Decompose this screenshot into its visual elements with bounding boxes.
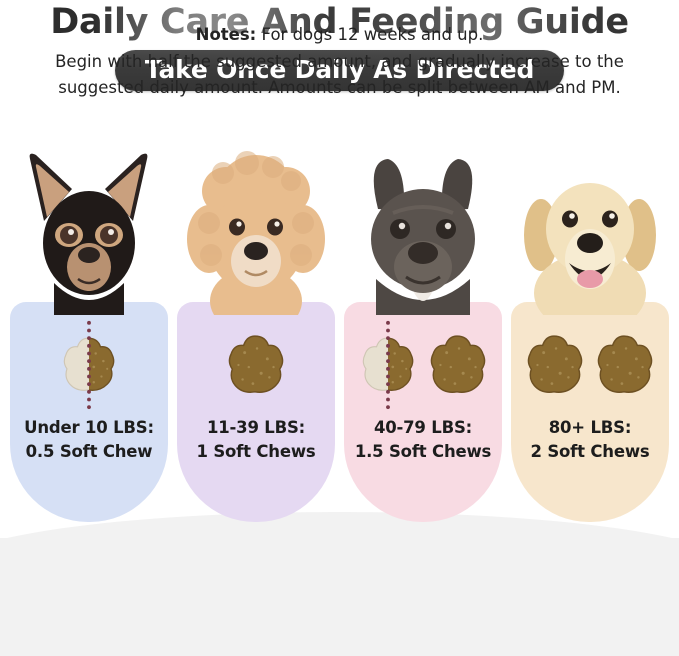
soft-chew-full xyxy=(427,332,489,402)
weight-label: 11-39 LBS: xyxy=(197,416,316,440)
dose-text: 11-39 LBS: 1 Soft Chews xyxy=(197,416,316,464)
soft-chew-half xyxy=(58,319,120,415)
chew-row xyxy=(524,330,656,404)
dose-text: 80+ LBS: 2 Soft Chews xyxy=(531,416,650,464)
weight-label: 40-79 LBS: xyxy=(355,416,491,440)
dog-photo-poodle xyxy=(181,143,331,315)
notes-section xyxy=(0,538,679,656)
soft-chew-full xyxy=(594,332,656,402)
dose-text: 40-79 LBS: 1.5 Soft Chews xyxy=(355,416,491,464)
dosage-card-row: Under 10 LBS: 0.5 Soft Chew xyxy=(0,140,679,530)
dog-photo-chihuahua xyxy=(14,143,164,315)
dog-photo xyxy=(177,140,335,315)
dose-text: Under 10 LBS: 0.5 Soft Chew xyxy=(24,416,154,464)
dosage-card-french-bulldog: 40-79 LBS: 1.5 Soft Chews xyxy=(344,140,502,530)
soft-chew-full xyxy=(225,332,287,402)
dog-photo xyxy=(10,140,168,315)
dog-photo xyxy=(511,140,669,315)
notes-label: Notes: xyxy=(196,25,257,44)
chew-row xyxy=(357,330,489,404)
chew-row xyxy=(225,330,287,404)
dog-photo-golden-retriever xyxy=(515,143,665,315)
card-content: 80+ LBS: 2 Soft Chews xyxy=(511,302,669,522)
dose-label: 2 Soft Chews xyxy=(531,440,650,464)
weight-label: 80+ LBS: xyxy=(531,416,650,440)
notes-line-1-text: For dogs 12 weeks and up. xyxy=(256,25,483,44)
soft-chew-full xyxy=(524,332,586,402)
dog-photo xyxy=(344,140,502,315)
chew-row xyxy=(58,330,120,404)
card-content: 11-39 LBS: 1 Soft Chews xyxy=(177,302,335,522)
notes-line-2: Begin with half the suggested amount, an… xyxy=(55,49,624,76)
card-content: 40-79 LBS: 1.5 Soft Chews xyxy=(344,302,502,522)
notes-text-block: Notes: For dogs 12 weeks and up. Begin w… xyxy=(0,0,679,118)
weight-label: Under 10 LBS: xyxy=(24,416,154,440)
dose-label: 0.5 Soft Chew xyxy=(24,440,154,464)
soft-chew-half xyxy=(357,319,419,415)
card-content: Under 10 LBS: 0.5 Soft Chew xyxy=(10,302,168,522)
dosage-card-chihuahua: Under 10 LBS: 0.5 Soft Chew xyxy=(10,140,168,530)
notes-line-3: suggested daily amount. Amounts can be s… xyxy=(58,75,620,102)
notes-line-1: Notes: For dogs 12 weeks and up. xyxy=(196,22,484,49)
dosage-card-golden-retriever: 80+ LBS: 2 Soft Chews xyxy=(511,140,669,530)
dose-label: 1.5 Soft Chews xyxy=(355,440,491,464)
dosage-card-poodle: 11-39 LBS: 1 Soft Chews xyxy=(177,140,335,530)
dog-photo-french-bulldog xyxy=(348,143,498,315)
dose-label: 1 Soft Chews xyxy=(197,440,316,464)
